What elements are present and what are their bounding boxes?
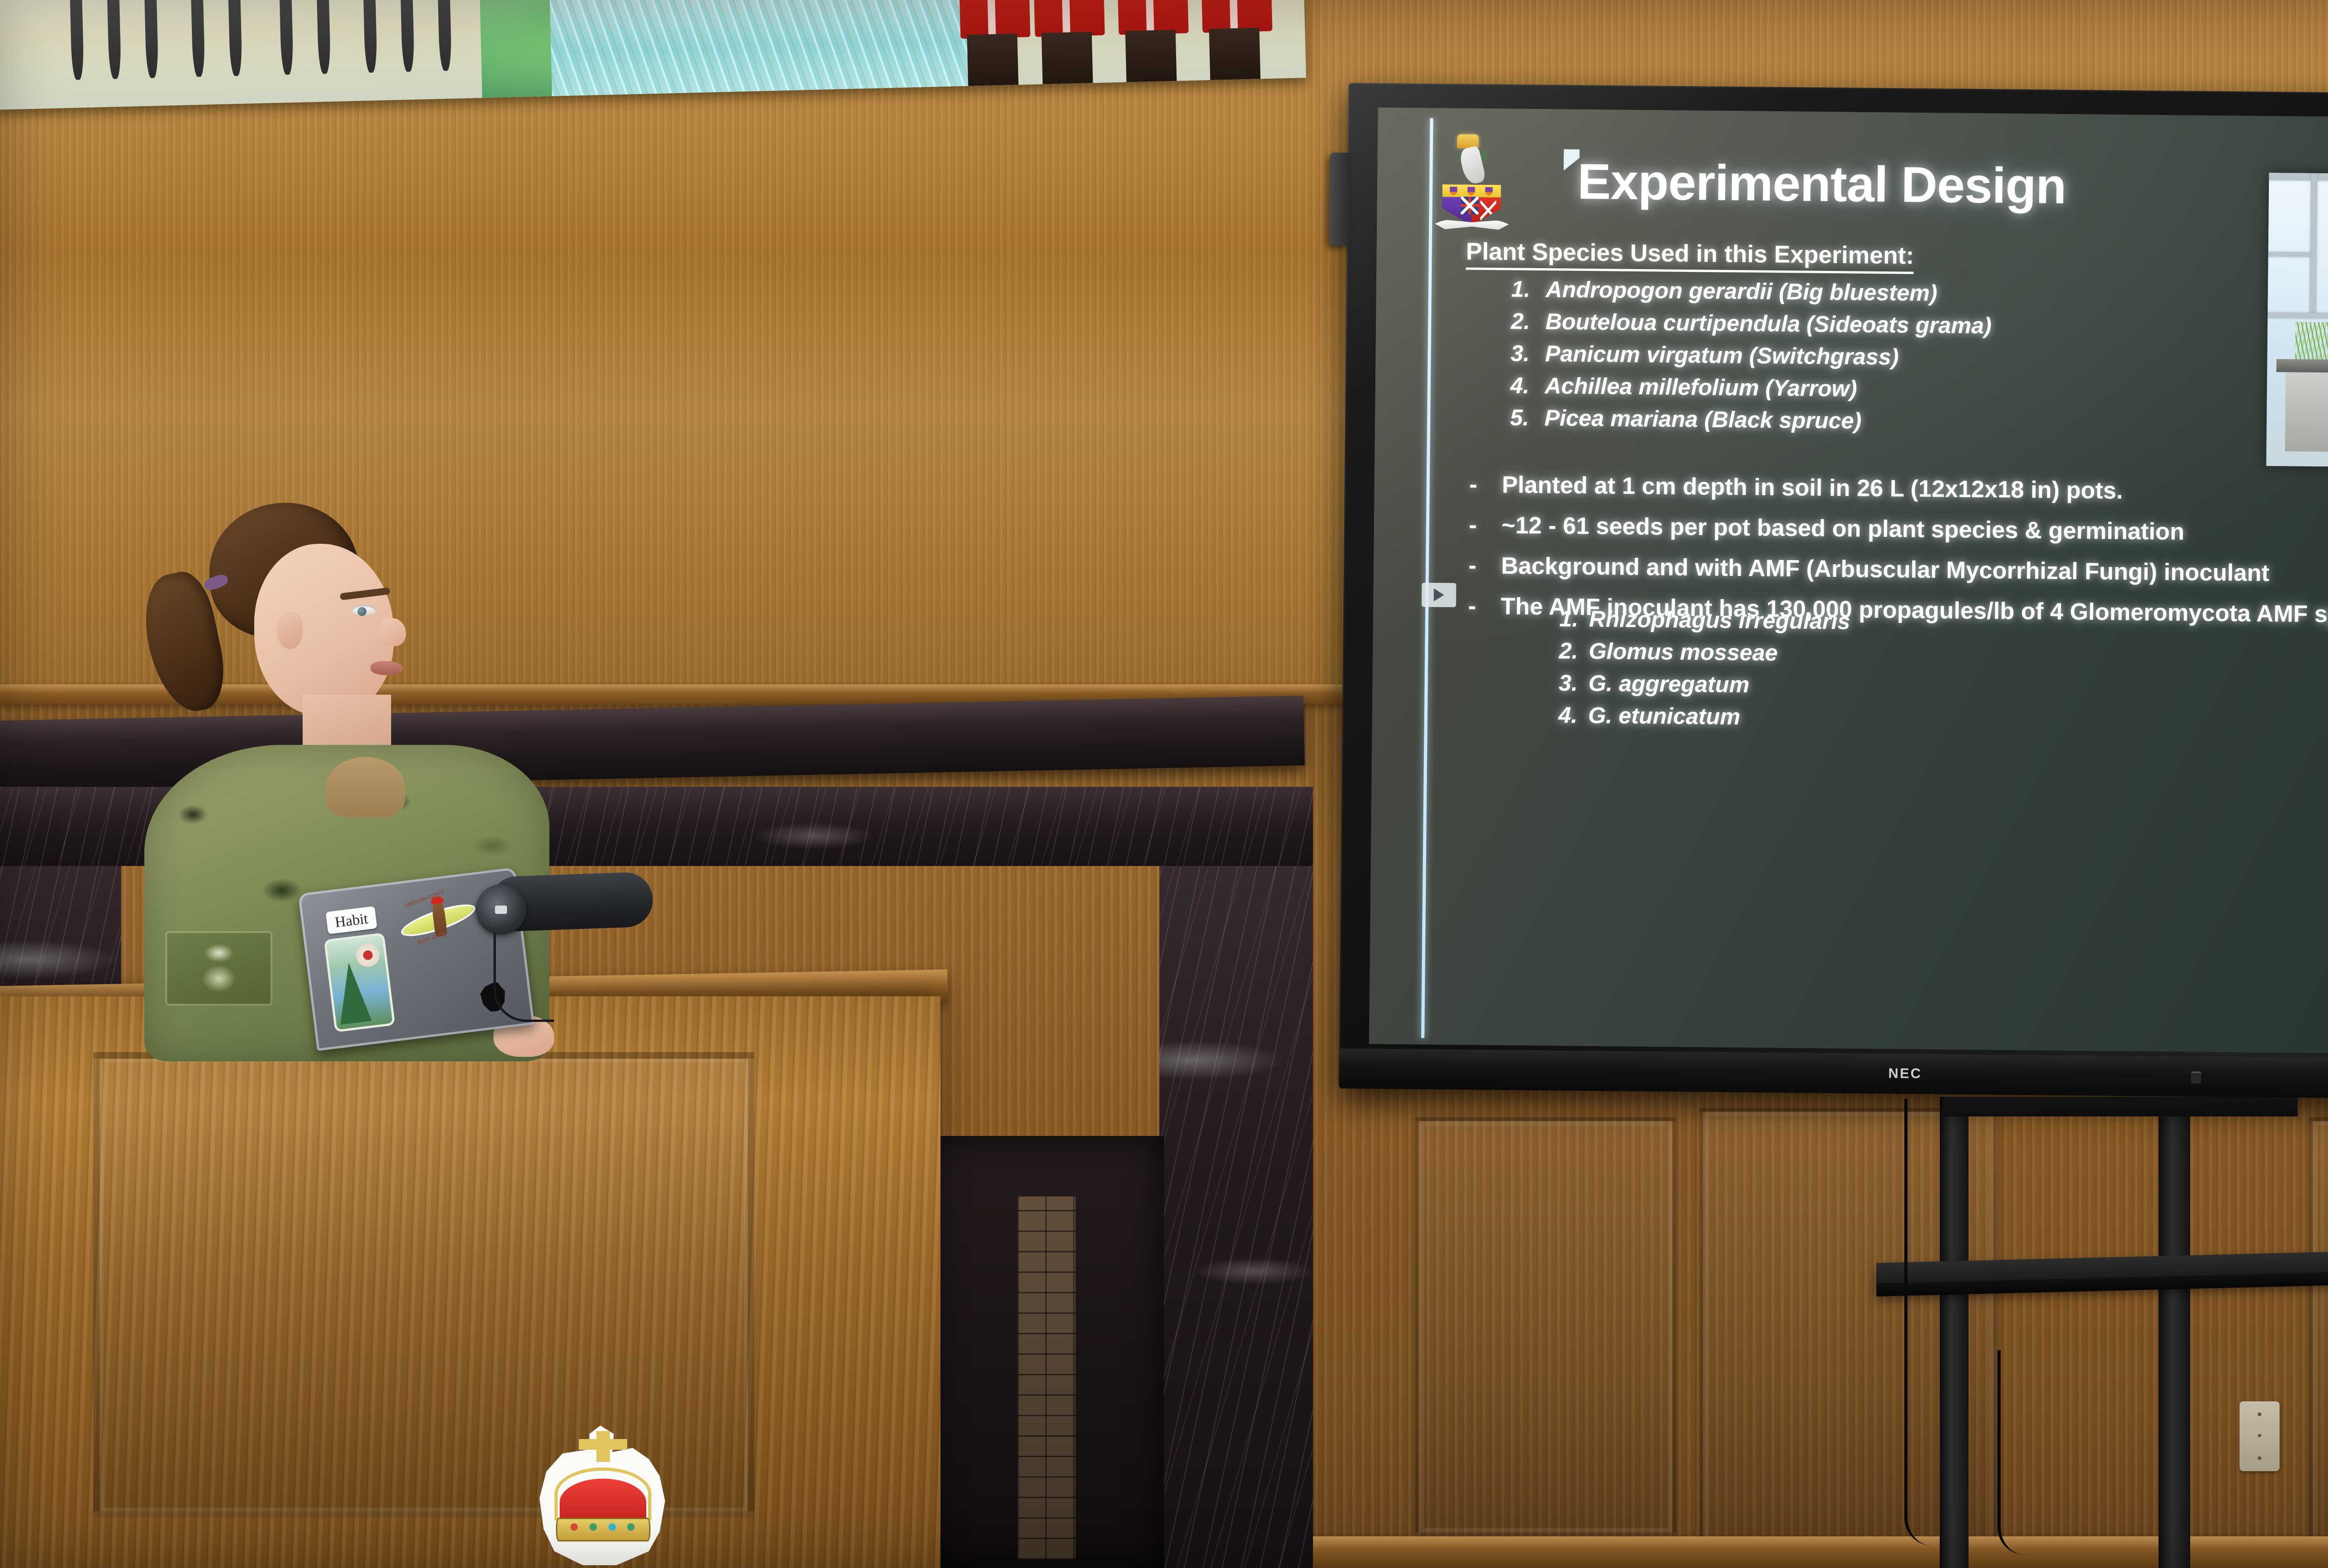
- podium: [0, 996, 941, 1568]
- list-item: 1.Andropogon gerardii (Big bluestem): [1511, 276, 2265, 310]
- marble-surround-right: [1159, 787, 1313, 1568]
- nec-brand-logo: NEC: [1888, 1066, 1922, 1082]
- species-heading: Plant Species Used in this Experiment:: [1466, 237, 1914, 274]
- shoulder-flash-patch: [165, 931, 272, 1006]
- list-item: 4.Achillea millefolium (Yarrow): [1510, 372, 2265, 406]
- wall-panel: [2309, 1117, 2328, 1546]
- slide-title: Experimental Design: [1577, 152, 2066, 215]
- presenter-ear: [277, 612, 303, 649]
- display-menu-button[interactable]: [2191, 1071, 2201, 1083]
- display-screen[interactable]: Experimental Design Plant Species Used i…: [1369, 108, 2328, 1058]
- greenhouse-photo: [2266, 173, 2328, 470]
- list-item: 2.Glomus mosseae: [1559, 638, 1850, 667]
- list-item: 3.Panicum virgatum (Switchgrass): [1510, 340, 2265, 374]
- list-item: 4.G. etunicatum: [1558, 702, 1849, 731]
- wall-outlet: [2240, 1401, 2280, 1471]
- sticker-oregon-coast-surf-club: OREGON COAST SURF CLUB: [396, 889, 480, 950]
- patch-crest-icon: [191, 943, 247, 994]
- amf-species-list: 1.Rhizophagus irregularis 2.Glomus mosse…: [1558, 606, 1850, 737]
- microphone-base: [476, 885, 526, 935]
- sticker-surf-bottom-text: SURF CLUB: [417, 931, 447, 946]
- presenter-mouth: [371, 661, 403, 675]
- list-item: 5.Picea mariana (Black spruce): [1510, 405, 2264, 438]
- microphone-cable: [494, 933, 554, 1022]
- presenter-face: [254, 544, 394, 716]
- presenter-nose: [382, 618, 406, 646]
- institution-crest-icon: [1436, 134, 1507, 235]
- royal-crown-emblem: [535, 1426, 670, 1565]
- list-item: ~12 - 61 seeds per pot based on plant sp…: [1465, 511, 2328, 548]
- sticker-forest-scene: [326, 935, 393, 1030]
- list-item: Planted at 1 cm depth in soil in 26 L (1…: [1465, 470, 2328, 508]
- slide-next-arrow-icon[interactable]: [1421, 583, 1456, 608]
- wall-panel: [1415, 1117, 1676, 1536]
- power-cable: [1904, 1099, 1988, 1546]
- list-item: 3.G. aggregatum: [1558, 670, 1849, 699]
- species-list: 1.Andropogon gerardii (Big bluestem) 2.B…: [1510, 276, 2266, 444]
- wall-display[interactable]: Experimental Design Plant Species Used i…: [1339, 83, 2328, 1102]
- signal-cable: [1997, 1350, 2137, 1555]
- presentation-slide: Experimental Design Plant Species Used i…: [1369, 108, 2328, 1058]
- presenter-iris: [358, 607, 366, 616]
- tv-stand-post-right: [2159, 1097, 2190, 1568]
- tv-stand-crossbar: [1944, 1097, 2298, 1116]
- firebox-brick: [1017, 1196, 1076, 1560]
- list-item: Background and with AMF (Arbuscular Myco…: [1465, 551, 2328, 589]
- slide-accent-bar: [1421, 118, 1433, 1038]
- undershirt-collar: [326, 757, 405, 818]
- list-item: 1.Rhizophagus irregularis: [1559, 606, 1850, 635]
- list-item: 2.Bouteloua curtipendula (Sideoats grama…: [1511, 308, 2265, 342]
- display-side-port: [1329, 153, 1351, 246]
